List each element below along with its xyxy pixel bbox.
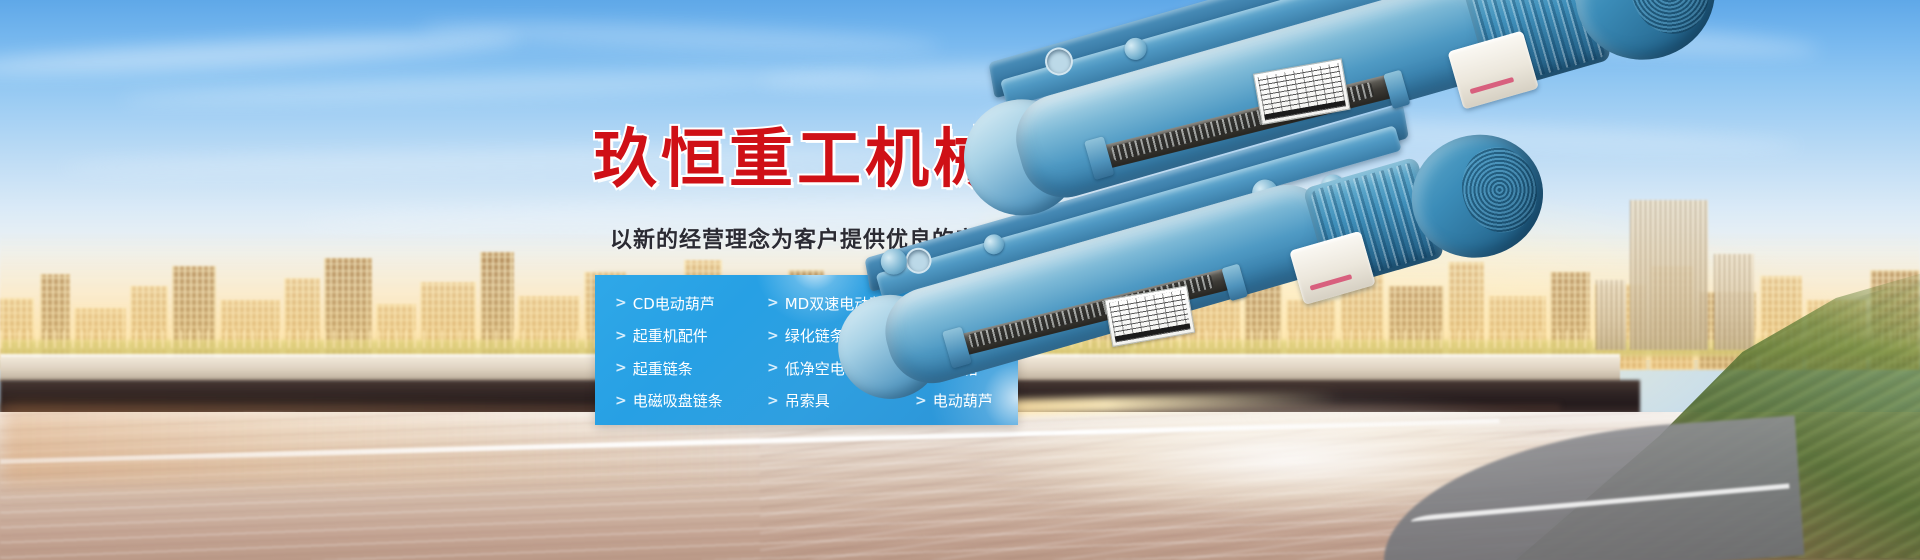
chevron-right-icon: >: [767, 329, 779, 343]
chevron-right-icon: >: [767, 361, 779, 375]
page-title: 玖恒重工机械: [593, 128, 1001, 192]
product-link-label: 起重机配件: [633, 325, 708, 346]
banner-stage: 玖恒重工机械 以新的经营理念为客户提供优良的产品和服务 > CD电动葫芦 > M…: [0, 0, 1920, 560]
product-link-label: CD电动葫芦: [633, 293, 715, 314]
product-link-crane-parts[interactable]: > 起重机配件: [615, 325, 767, 346]
chevron-right-icon: >: [615, 361, 627, 375]
product-link-label: 绿化链条: [785, 325, 845, 346]
product-image-hoists: [1040, 50, 1920, 470]
chevron-right-icon: >: [615, 296, 627, 310]
chevron-right-icon: >: [767, 394, 779, 408]
product-link-label: 电磁吸盘链条: [633, 390, 723, 411]
product-link-cd-hoist[interactable]: > CD电动葫芦: [615, 293, 767, 314]
product-link-magnetic-chain[interactable]: > 电磁吸盘链条: [615, 390, 767, 411]
chevron-right-icon: >: [615, 394, 627, 408]
product-link-label: 吊索具: [785, 390, 830, 411]
product-link-lifting-chain[interactable]: > 起重链条: [615, 358, 767, 379]
product-link-label: 起重链条: [633, 358, 693, 379]
chevron-right-icon: >: [767, 296, 779, 310]
chevron-right-icon: >: [615, 329, 627, 343]
